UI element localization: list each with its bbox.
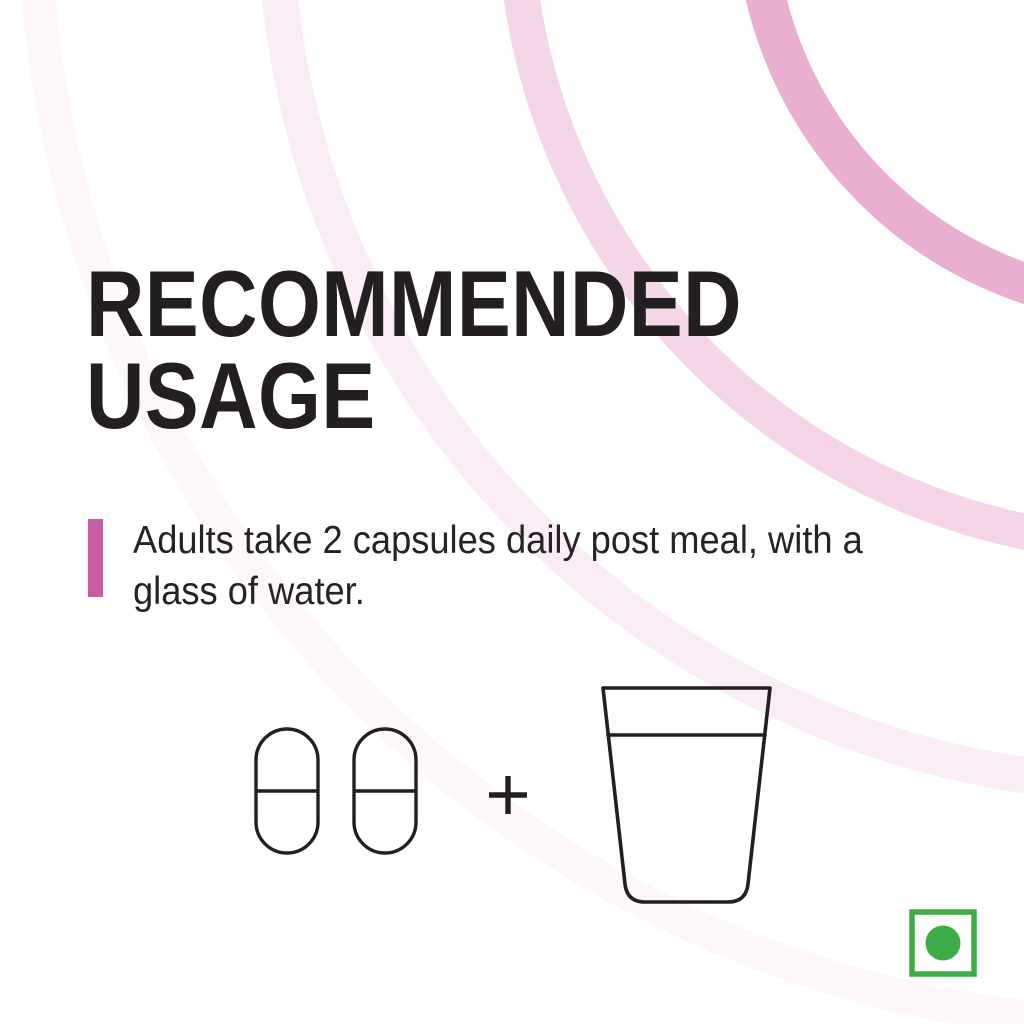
usage-instruction-block: Adults take 2 capsules daily post meal, …: [88, 515, 918, 618]
plus-icon: [489, 776, 527, 814]
dosage-icon-row: [236, 660, 816, 930]
usage-infographic-card: RECOMMENDED USAGE Adults take 2 capsules…: [0, 0, 1024, 1024]
background-arc-4: [755, 0, 1024, 305]
vegetarian-mark-dot: [926, 926, 961, 961]
vegetarian-mark: [908, 908, 978, 978]
capsule-icon: [256, 729, 318, 853]
usage-instruction-text: Adults take 2 capsules daily post meal, …: [133, 515, 863, 618]
page-title: RECOMMENDED USAGE: [86, 258, 705, 442]
water-glass-icon: [603, 688, 770, 902]
capsule-icon: [354, 729, 416, 853]
page-title-text: RECOMMENDED USAGE: [86, 251, 742, 448]
accent-bar: [88, 519, 103, 597]
